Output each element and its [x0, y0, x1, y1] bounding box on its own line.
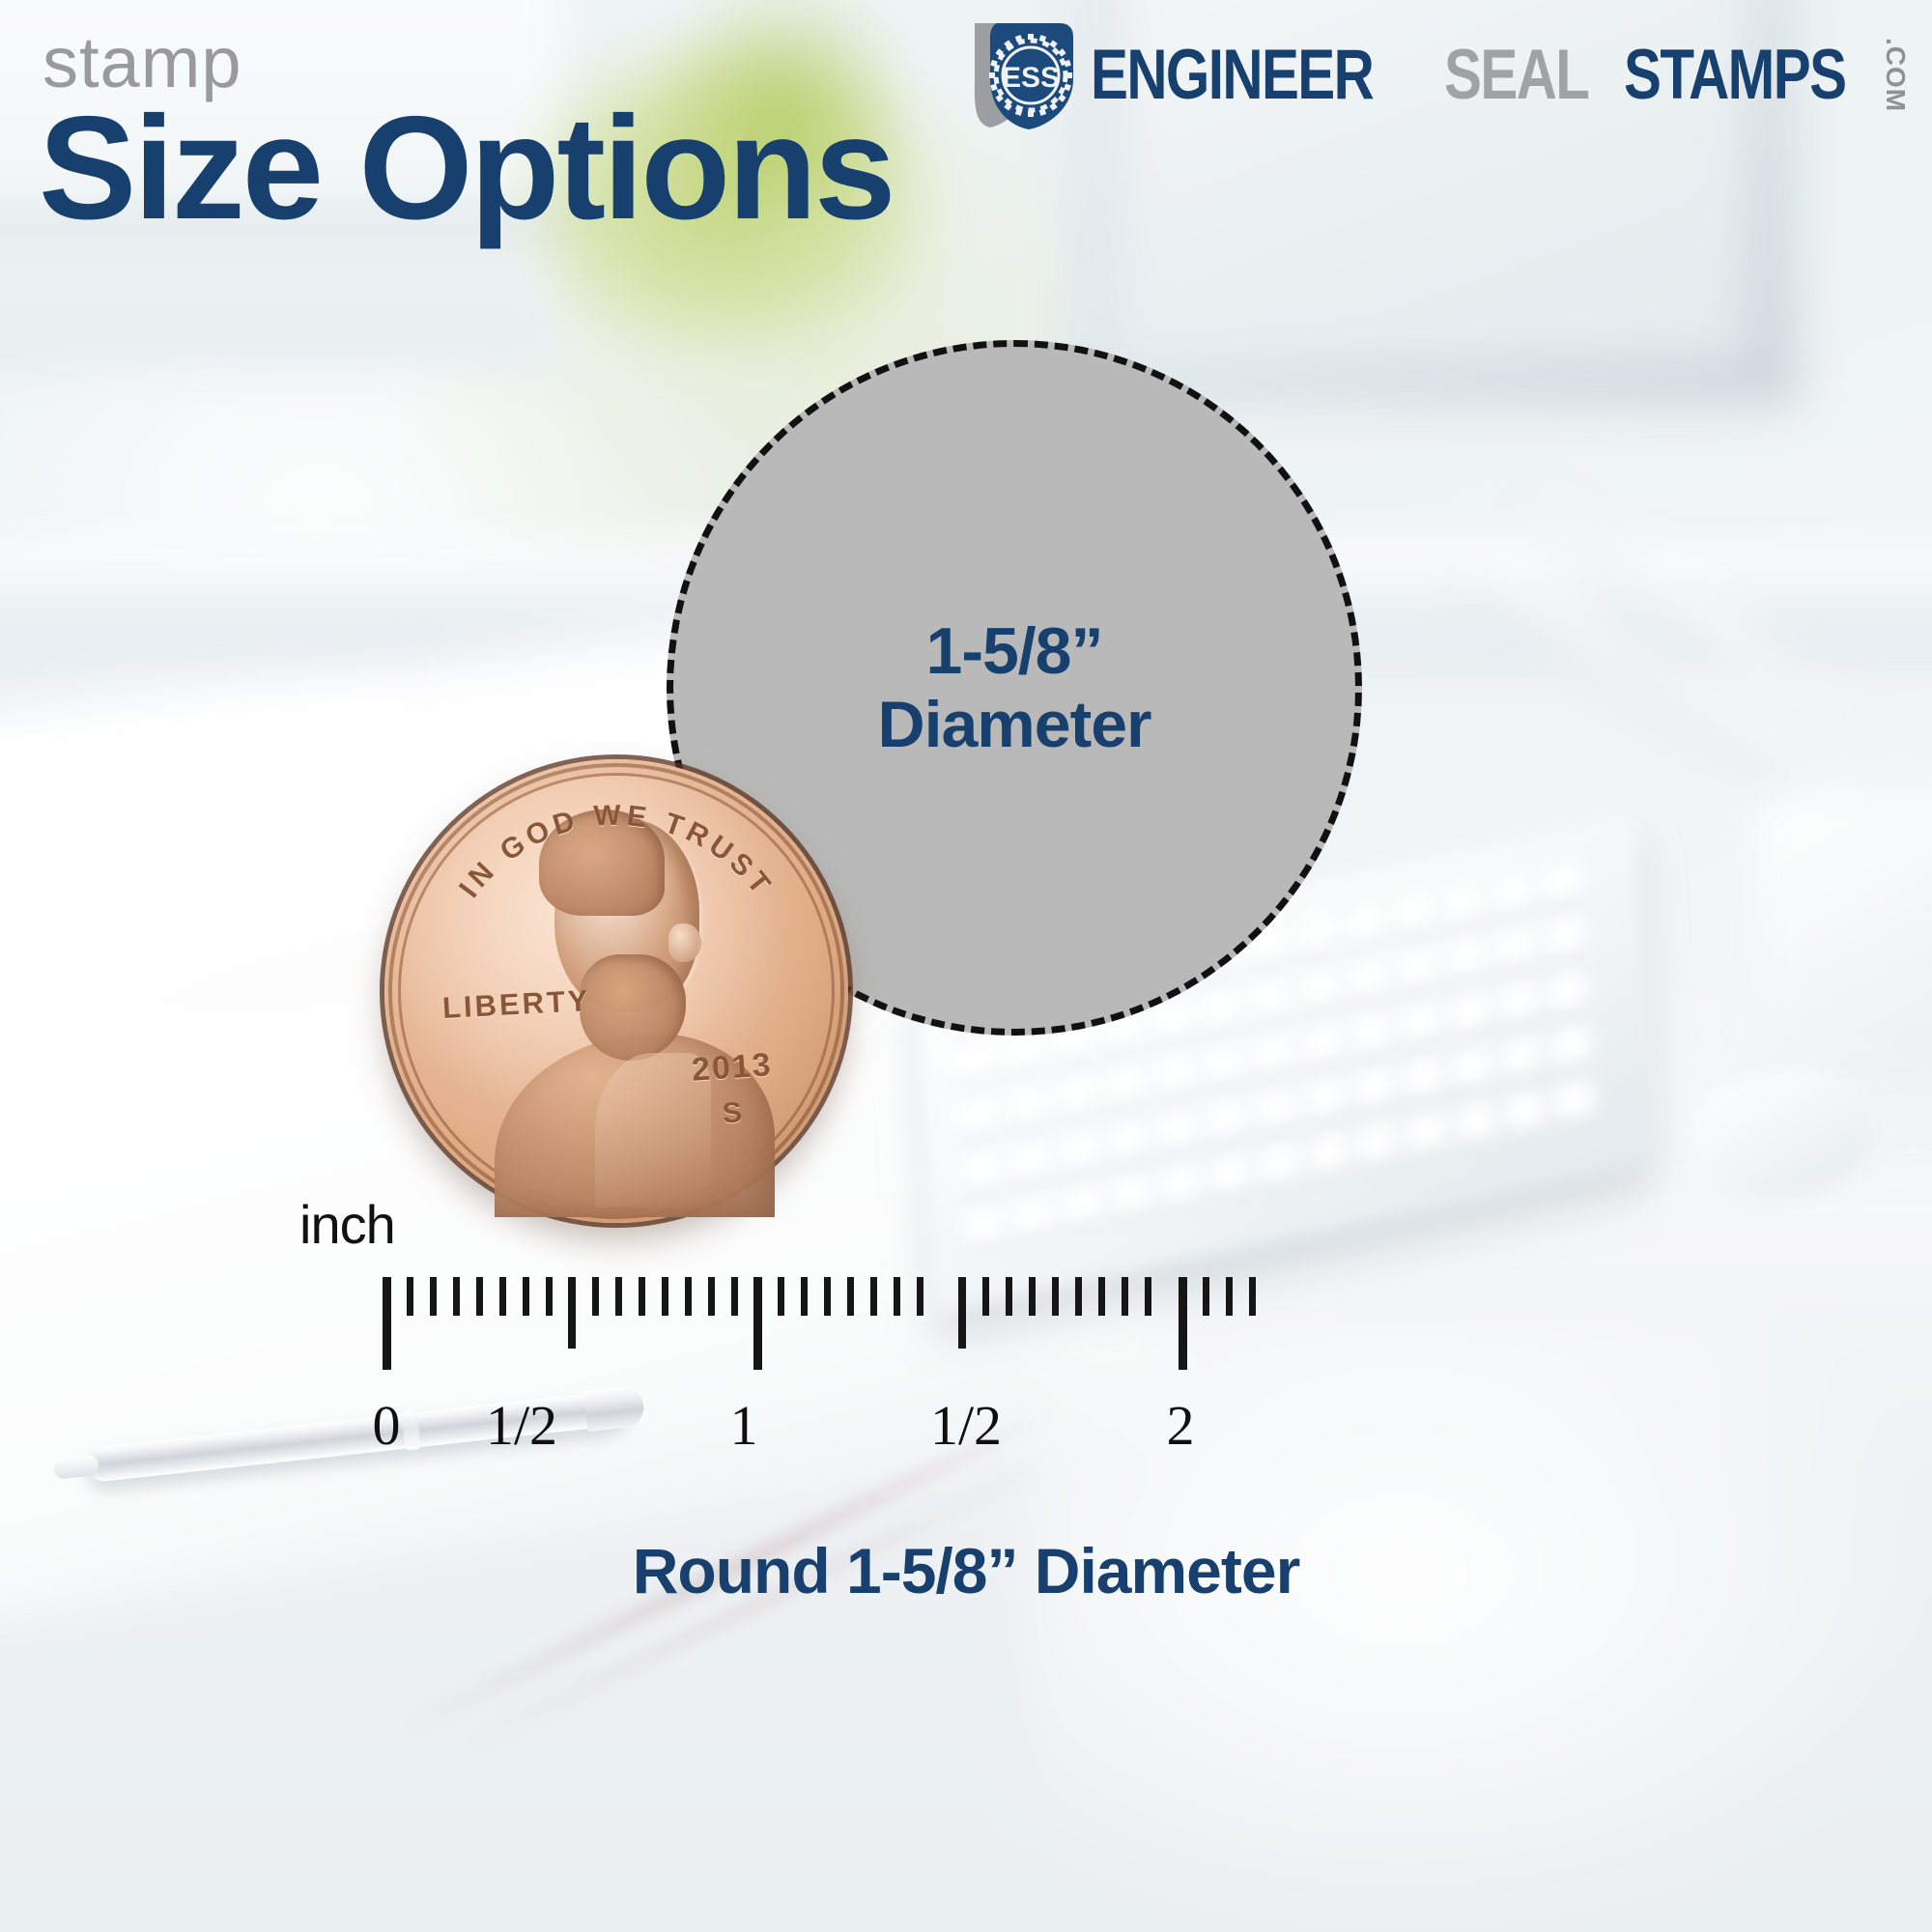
size-options-graphic: stamp ESS ENGINEER SEAL STAMPS .COM	[0, 0, 1932, 1932]
logo-word-seal: SEAL	[1444, 40, 1588, 110]
page-title: Size Options	[39, 95, 894, 241]
penny-motto-text: IN GOD WE TRUST	[453, 800, 779, 904]
ess-shield-icon: ESS	[959, 17, 1083, 133]
size-caption: Round 1-5/8” Diameter	[0, 1534, 1932, 1607]
size-label-line1: 1-5/8”	[926, 614, 1103, 688]
penny-year-text: 2013	[691, 1046, 774, 1090]
svg-text:IN GOD WE TRUST: IN GOD WE TRUST	[453, 800, 779, 904]
logo-word-engineer: ENGINEER	[1091, 40, 1373, 110]
company-logo[interactable]: ESS ENGINEER SEAL STAMPS .COM	[959, 17, 1911, 133]
size-label-line2: Diameter	[877, 688, 1151, 761]
penny-mint-mark: S	[722, 1096, 743, 1130]
ruler-unit-label: inch	[299, 1193, 395, 1256]
us-penny-coin: IN GOD WE TRUST LIBERTY 2013 S	[384, 759, 848, 1223]
logo-word-stamps: STAMPS	[1624, 40, 1845, 110]
ess-mark-text: ESS	[1002, 62, 1060, 94]
logo-word-tld: .COM	[1880, 38, 1911, 112]
logo-wordmark: ENGINEER SEAL STAMPS .COM	[1091, 38, 1911, 112]
